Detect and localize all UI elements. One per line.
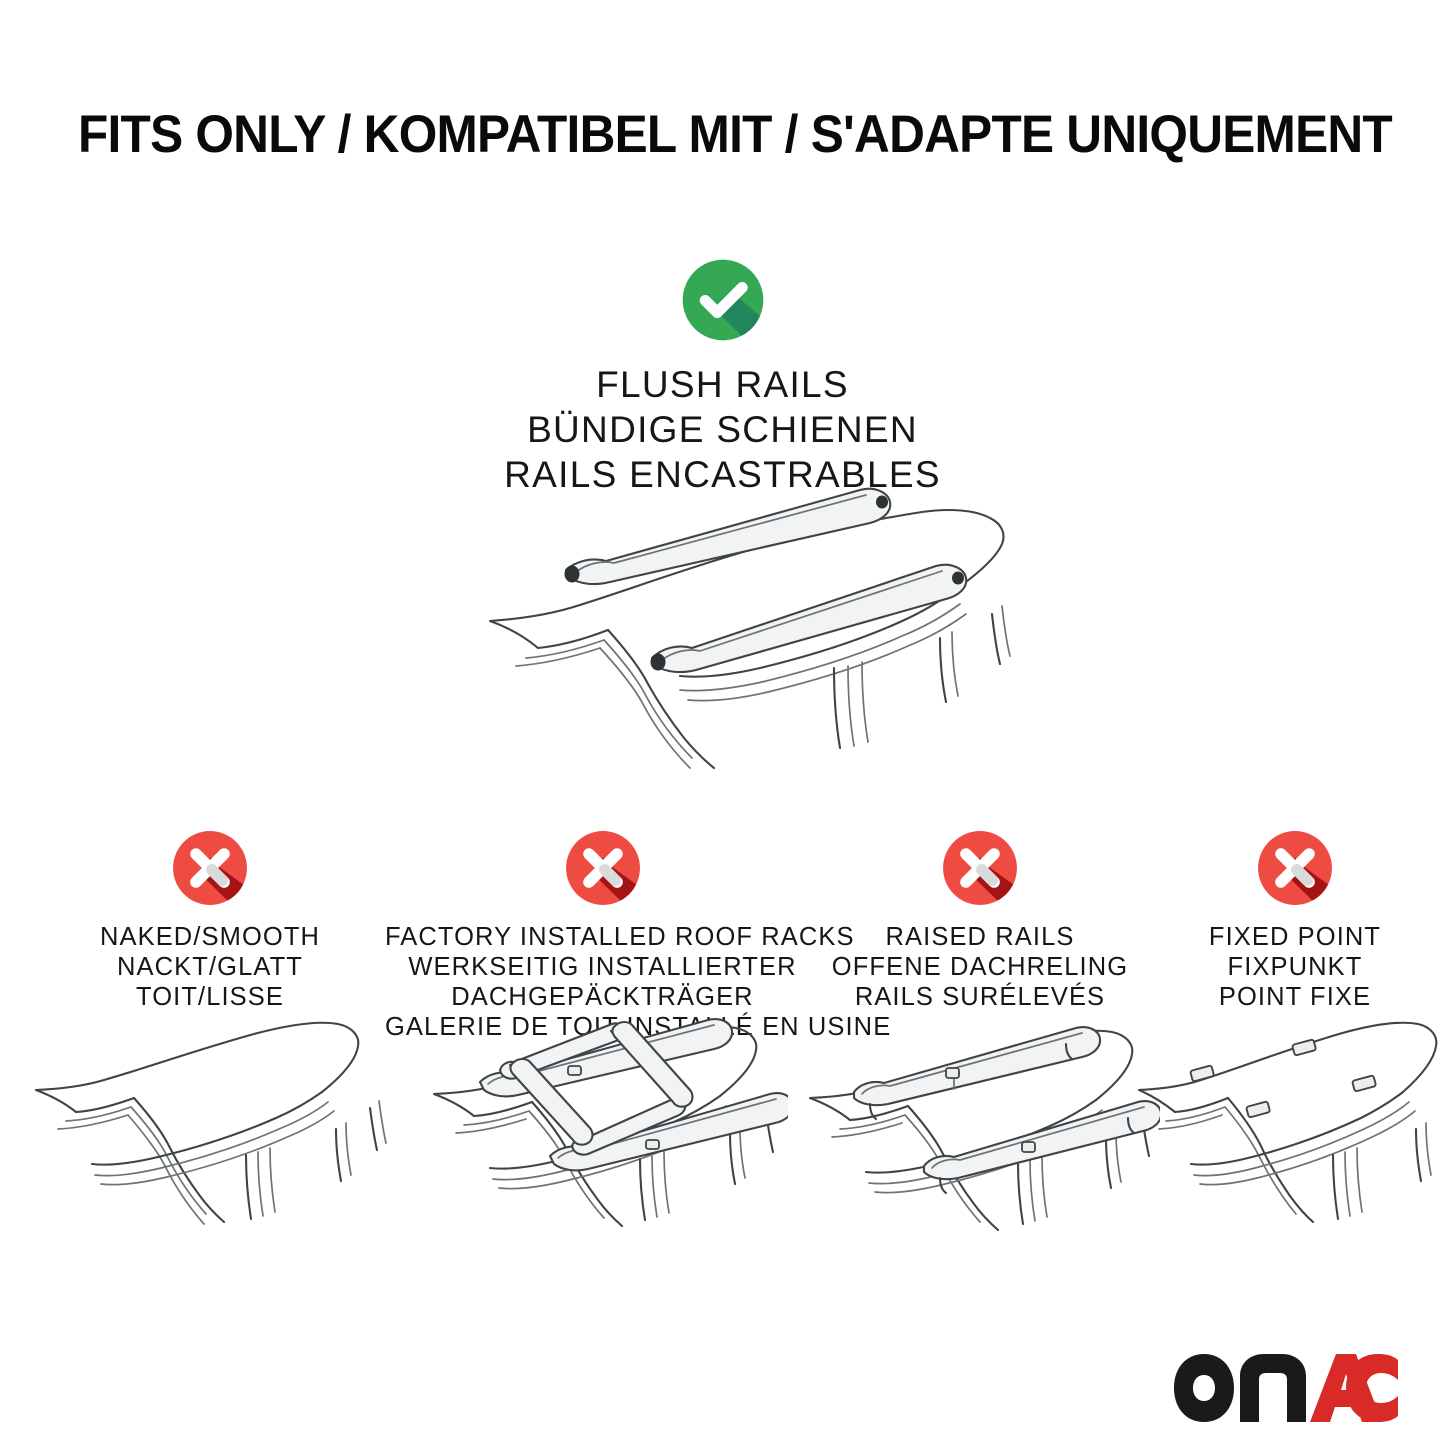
- compatible-label-line-1: FLUSH RAILS: [0, 362, 1445, 407]
- compatible-label-line-2: BÜNDIGE SCHIENEN: [0, 407, 1445, 452]
- x-circle-icon: [166, 824, 254, 912]
- not-compatible-label: FIXED POINT FIXPUNKT POINT FIXE: [1145, 922, 1445, 1012]
- logo-letter-o: [1174, 1354, 1234, 1422]
- car-roof-factory-rack-illustration: [418, 1004, 788, 1232]
- not-compatible-item-fixed-point: FIXED POINT FIXPUNKT POINT FIXE: [1145, 824, 1445, 1012]
- label-line-2: NACKT/GLATT: [20, 952, 400, 982]
- logo-letter-m: [1240, 1354, 1306, 1422]
- label-line-2: OFFENE DACHRELING: [800, 952, 1160, 982]
- x-circle-icon: [936, 824, 1024, 912]
- label-line-3: TOIT/LISSE: [20, 982, 400, 1012]
- label-line-1: FACTORY INSTALLED ROOF RACKS: [385, 922, 820, 952]
- page-title: FITS ONLY / KOMPATIBEL MIT / S'ADAPTE UN…: [78, 104, 1294, 166]
- car-roof-fixed-points-illustration: [1135, 1016, 1445, 1231]
- car-roof-raised-rails-illustration: [800, 1010, 1160, 1232]
- compatible-section: FLUSH RAILS BÜNDIGE SCHIENEN RAILS ENCAS…: [0, 252, 1445, 497]
- car-roof-flush-rails-illustration: [430, 462, 1030, 772]
- not-compatible-section: NAKED/SMOOTH NACKT/GLATT TOIT/LISSE: [0, 824, 1445, 1244]
- label-line-1: RAISED RAILS: [800, 922, 1160, 952]
- x-circle-icon: [559, 824, 647, 912]
- not-compatible-item-factory-roof-racks: FACTORY INSTALLED ROOF RACKS WERKSEITIG …: [385, 824, 820, 1042]
- not-compatible-label: NAKED/SMOOTH NACKT/GLATT TOIT/LISSE: [20, 922, 400, 1012]
- car-roof-bare-illustration: [30, 1016, 390, 1231]
- check-circle-icon: [675, 252, 771, 348]
- label-line-1: FIXED POINT: [1145, 922, 1445, 952]
- infographic-page: FITS ONLY / KOMPATIBEL MIT / S'ADAPTE UN…: [0, 0, 1445, 1445]
- label-line-2: FIXPUNKT: [1145, 952, 1445, 982]
- label-line-1: NAKED/SMOOTH: [20, 922, 400, 952]
- label-line-2: WERKSEITIG INSTALLIERTER: [385, 952, 820, 982]
- not-compatible-item-raised-rails: RAISED RAILS OFFENE DACHRELING RAILS SUR…: [800, 824, 1160, 1012]
- omac-logo: [1172, 1352, 1400, 1424]
- x-circle-icon: [1251, 824, 1339, 912]
- not-compatible-item-naked-smooth: NAKED/SMOOTH NACKT/GLATT TOIT/LISSE: [20, 824, 400, 1012]
- not-compatible-label: RAISED RAILS OFFENE DACHRELING RAILS SUR…: [800, 922, 1160, 1012]
- label-line-3: POINT FIXE: [1145, 982, 1445, 1012]
- label-line-3: RAILS SURÉLEVÉS: [800, 982, 1160, 1012]
